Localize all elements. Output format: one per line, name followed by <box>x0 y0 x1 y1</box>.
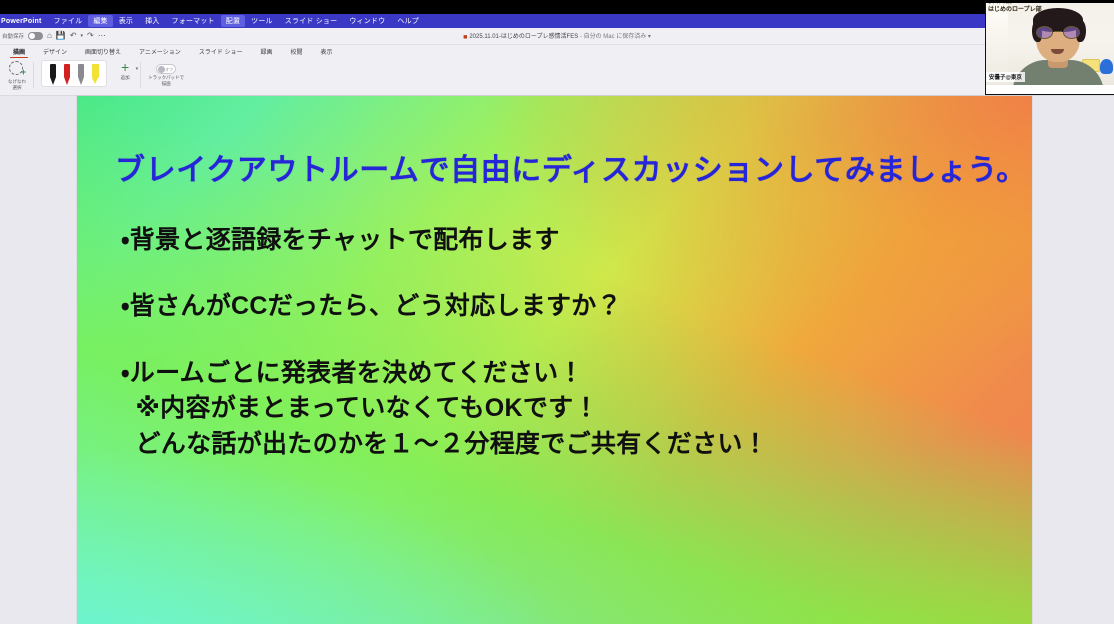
pen-gray[interactable] <box>77 64 85 86</box>
lasso-select-button[interactable]: + なげなわ 選択 <box>3 60 31 94</box>
screen-top-black-bar <box>0 0 1114 14</box>
highlighter-yellow[interactable] <box>91 64 99 86</box>
menu-item-edit[interactable]: 編集 <box>88 15 112 27</box>
lasso-select-label: なげなわ 選択 <box>8 79 26 90</box>
ribbon-tab-draw[interactable]: 描画 <box>4 47 34 56</box>
trackpad-draw-group[interactable]: オフ トラックパッドで 描画 <box>143 60 189 94</box>
participant-name-badge: 安曇子@東京 <box>986 72 1025 82</box>
pen-tray-group <box>36 60 112 94</box>
slide[interactable]: ブレイクアウトルームで自由にディスカッションしてみましょう。 ・背景と逐語録をチ… <box>77 96 1032 624</box>
video-bottom-strip <box>986 85 1114 94</box>
ribbon-separator <box>140 62 141 88</box>
redo-icon[interactable]: ↷ <box>87 32 94 40</box>
quick-access-toolbar: 自動保存 ⌂ 💾 ↶ ▾ ↷ ⋯ ■2025.11.01-はじめのロープレ感情活… <box>0 28 1114 45</box>
pen-tray <box>41 60 107 87</box>
pen-red[interactable] <box>63 64 71 86</box>
slide-bullet-1[interactable]: ・背景と逐語録をチャットで配布します <box>115 223 1006 259</box>
slide-canvas-area: ブレイクアウトルームで自由にディスカッションしてみましょう。 ・背景と逐語録をチ… <box>0 96 1114 624</box>
slide-bullet-2[interactable]: ・皆さんがCCだったら、どう対応しますか？ <box>115 289 1006 325</box>
pen-black[interactable] <box>49 64 57 86</box>
quick-access-left-group: 自動保存 ⌂ 💾 ↶ ▾ ↷ ⋯ <box>0 32 106 40</box>
ribbon-tab-design[interactable]: デザイン <box>34 47 76 56</box>
autosave-toggle[interactable] <box>28 32 43 40</box>
menu-item-file[interactable]: ファイル <box>48 16 89 26</box>
ribbon-tab-record[interactable]: 録画 <box>251 47 281 56</box>
save-status-label: 自分の Mac に保存済み <box>584 34 647 40</box>
banner-line-2: はじめのロープレ部 <box>988 6 1048 14</box>
slide-bullet-list: ・背景と逐語録をチャットで配布します ・皆さんがCCだったら、どう対応しますか？… <box>115 223 1006 463</box>
chevron-down-icon[interactable]: ▾ <box>136 66 139 72</box>
undo-icon[interactable]: ↶ <box>70 32 77 40</box>
trackpad-draw-toggle[interactable]: オフ <box>156 64 176 74</box>
powerpoint-window: PowerPoint ファイル 編集 表示 挿入 フォーマット 配置 ツール ス… <box>0 0 1114 624</box>
menu-item-insert[interactable]: 挿入 <box>139 16 165 26</box>
ribbon-separator <box>33 62 34 88</box>
video-person <box>1020 8 1096 94</box>
plus-icon: + <box>121 60 129 74</box>
slide-content: ブレイクアウトルームで自由にディスカッションしてみましょう。 ・背景と逐語録をチ… <box>77 96 1032 462</box>
lasso-select-icon: + <box>8 60 26 78</box>
menu-item-arrange[interactable]: 配置 <box>221 15 245 27</box>
trackpad-toggle-state: オフ <box>165 66 173 74</box>
slide-title[interactable]: ブレイクアウトルームで自由にディスカッションしてみましょう。 <box>115 154 1006 189</box>
save-icon[interactable]: 💾 <box>56 32 66 40</box>
trackpad-draw-label: トラックパッドで 描画 <box>148 75 184 86</box>
slide-bullet-3[interactable]: ・ルームごとに発表者を決めてください！ ※内容がまとまっていなくてもOKです！ … <box>115 356 1006 463</box>
ribbon-tab-bar: 描画 デザイン 画面切り替え アニメーション スライド ショー 録画 校閲 表示 <box>0 45 1114 58</box>
home-icon[interactable]: ⌂ <box>47 32 52 40</box>
menu-app-name[interactable]: PowerPoint <box>0 18 48 25</box>
ribbon-body: + なげなわ 選択 <box>0 58 1114 96</box>
ribbon-tab-transitions[interactable]: 画面切り替え <box>76 47 130 56</box>
ribbon-tab-review[interactable]: 校閲 <box>282 47 312 56</box>
ellipsis-icon[interactable]: ⋯ <box>98 32 106 40</box>
person-glasses <box>1035 26 1081 39</box>
menu-item-format[interactable]: フォーマット <box>166 16 221 26</box>
menu-item-slideshow[interactable]: スライド ショー <box>279 16 344 26</box>
document-title-bar: ■2025.11.01-はじめのロープレ感情活FES - 自分の Mac に保存… <box>0 31 1114 41</box>
add-pen-label: 追加 <box>121 75 130 81</box>
ribbon-tab-slideshow[interactable]: スライド ショー <box>190 47 252 56</box>
menu-item-window[interactable]: ウィンドウ <box>343 16 391 26</box>
mac-menu-bar: PowerPoint ファイル 編集 表示 挿入 フォーマット 配置 ツール ス… <box>0 14 1114 28</box>
chevron-down-icon[interactable]: ▾ <box>646 34 651 40</box>
ribbon-tab-animations[interactable]: アニメーション <box>130 47 190 56</box>
autosave-label: 自動保存 <box>2 32 24 40</box>
document-title[interactable]: 2025.11.01-はじめのロープレ感情活FES <box>469 34 578 40</box>
ribbon-tab-view[interactable]: 表示 <box>312 47 342 56</box>
video-top-strip <box>986 0 1114 3</box>
add-pen-icon-wrap: + ▾ <box>117 60 133 74</box>
menu-item-view[interactable]: 表示 <box>113 16 139 26</box>
blue-object-decoration <box>1100 59 1113 74</box>
powerpoint-document-icon: ■ <box>463 34 467 41</box>
video-participant-tile[interactable]: キャリアサロン はじめのロープレ部 安曇子@東京 <box>985 0 1114 95</box>
menu-item-tools[interactable]: ツール <box>245 16 279 26</box>
add-pen-button[interactable]: + ▾ 追加 <box>112 60 138 94</box>
menu-item-help[interactable]: ヘルプ <box>391 16 425 26</box>
undo-dropdown-icon[interactable]: ▾ <box>81 34 84 39</box>
